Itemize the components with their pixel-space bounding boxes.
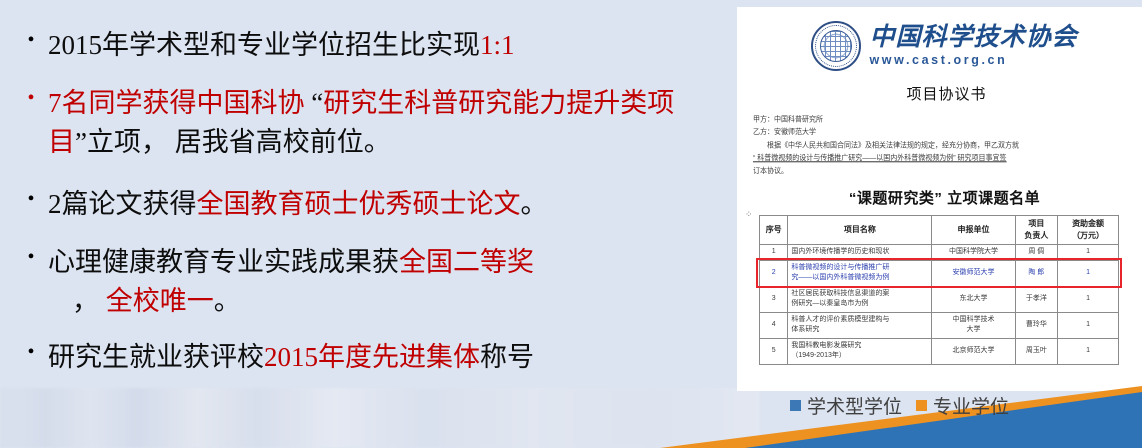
bullet-segment-accent: 7名同学获得中国科协 bbox=[48, 88, 305, 118]
table-row: 5 我国科教电影发展研究 （1949-2013年） 北京师范大学 周玉叶 1 bbox=[760, 338, 1119, 364]
bullet-segment: 称号 bbox=[480, 342, 534, 372]
cell-no: 5 bbox=[760, 338, 788, 364]
column-header-project-name: 项目名称 bbox=[788, 216, 932, 245]
grant-table: 序号 项目名称 申报单位 项目 负责人 资助金额 （万元） bbox=[759, 215, 1119, 365]
cell-no: 3 bbox=[760, 286, 788, 312]
header-label-2: 负责人 bbox=[1024, 231, 1048, 240]
header-label-2: （万元） bbox=[1072, 231, 1104, 240]
cell-line-1: 科普微视频的设计与传播推广研 bbox=[791, 264, 889, 271]
cell-unit: 安徽师范大学 bbox=[932, 260, 1015, 286]
cell-line-2: （1949-2013年） bbox=[791, 352, 845, 359]
bullet-segment: “ bbox=[305, 88, 324, 118]
cell-leader: 曹玲华 bbox=[1015, 312, 1058, 338]
cell-line-2: 体系研究 bbox=[791, 326, 819, 333]
cell-leader: 周 倜 bbox=[1015, 245, 1058, 261]
scan-corner-mark: ⁘ bbox=[745, 209, 753, 220]
cell-project-name: 国内外环境传播学的历史和现状 bbox=[788, 245, 932, 261]
bullet-segment: 。 bbox=[214, 286, 241, 316]
cell-unit: 中国科学技术 大学 bbox=[932, 312, 1015, 338]
cell-line-1: 我国科教电影发展研究 bbox=[791, 342, 861, 349]
cell-amount: 1 bbox=[1058, 245, 1119, 261]
legend-label: 专业学位 bbox=[933, 392, 1009, 419]
chart-legend: 学术型学位 专业学位 bbox=[790, 392, 1009, 419]
cell-line-1: 社区居民获取科技信息渠道的案 bbox=[791, 290, 889, 297]
document-parties-and-preamble: 甲方：中国科普研究所 乙方：安徽师范大学 根据《中华人民共和国合同法》及相关法律… bbox=[753, 114, 1130, 178]
cell-line-1: 科普人才的评价素质模型建构与 bbox=[791, 316, 889, 323]
bullet-segment: 2015年学术型和专业学位招生比实现 bbox=[48, 30, 480, 60]
header-label: 申报单位 bbox=[957, 225, 989, 234]
table-row: 1 国内外环境传播学的历史和现状 中国科学院大学 周 倜 1 bbox=[760, 245, 1119, 261]
bullet-segment-accent: 全校唯一 bbox=[99, 286, 214, 316]
legend-label: 学术型学位 bbox=[807, 392, 902, 419]
bullet-segment: 研究生就业获评校 bbox=[48, 342, 264, 372]
bullet-text: 2篇论文获得全国教育硕士优秀硕士论文。 bbox=[48, 185, 740, 223]
bullet-marker: • bbox=[0, 185, 48, 214]
bullet-segment-accent: 1:1 bbox=[480, 30, 515, 60]
legend-item-academic: 学术型学位 bbox=[790, 392, 902, 419]
cell-leader: 周玉叶 bbox=[1015, 338, 1058, 364]
bullet-segment-accent: 全国教育硕士优秀硕士论文 bbox=[197, 189, 521, 219]
column-header-leader: 项目 负责人 bbox=[1015, 216, 1058, 245]
column-header-no: 序号 bbox=[760, 216, 788, 245]
header-label: 资助金额 bbox=[1072, 219, 1104, 228]
cell-line-1: 国内外环境传播学的历史和现状 bbox=[791, 248, 889, 255]
table-header-row: 序号 项目名称 申报单位 项目 负责人 资助金额 （万元） bbox=[760, 216, 1119, 245]
document-letterhead: 中国科学技术协会 www.cast.org.cn bbox=[737, 21, 1142, 71]
header-label: 项目名称 bbox=[844, 225, 876, 234]
cell-amount: 1 bbox=[1058, 260, 1119, 286]
column-header-amount: 资助金额 （万元） bbox=[1058, 216, 1119, 245]
bullet-segment-accent: 2015年度先进集体 bbox=[264, 342, 480, 372]
cell-line-2: 大学 bbox=[966, 326, 980, 333]
table-row: 3 社区居民获取科技信息渠道的案 例研究—以秦皇岛市为例 东北大学 于孝洋 1 bbox=[760, 286, 1119, 312]
party-b-line: 乙方：安徽师范大学 bbox=[753, 127, 1130, 140]
header-label: 项目 bbox=[1028, 219, 1044, 228]
bullet-marker: • bbox=[0, 26, 48, 55]
cell-project-name: 科普人才的评价素质模型建构与 体系研究 bbox=[788, 312, 932, 338]
bullet-text: 研究生就业获评校2015年度先进集体称号 bbox=[48, 338, 740, 376]
document-scan: 中国科学技术协会 www.cast.org.cn 项目协议书 甲方：中国科普研究… bbox=[737, 7, 1142, 391]
bullet-segment: ”立项， 居我省高校前位。 bbox=[75, 127, 391, 157]
grant-list-title: “课题研究类” 立项课题名单 bbox=[747, 187, 1142, 208]
cell-no: 1 bbox=[760, 245, 788, 261]
header-label: 序号 bbox=[766, 225, 782, 234]
cell-unit: 北京师范大学 bbox=[932, 338, 1015, 364]
cell-amount: 1 bbox=[1058, 312, 1119, 338]
party-a-line: 甲方：中国科普研究所 bbox=[753, 114, 1130, 127]
legend-swatch-icon bbox=[916, 400, 927, 411]
bullet-text: 心理健康教育专业实践成果获全国二等奖， 全校唯一。 bbox=[48, 243, 740, 320]
cell-project-name: 我国科教电影发展研究 （1949-2013年） bbox=[788, 338, 932, 364]
list-item: • 研究生就业获评校2015年度先进集体称号 bbox=[0, 338, 740, 376]
list-item: • 7名同学获得中国科协 “研究生科普研究能力提升类项目”立项， 居我省高校前位… bbox=[0, 84, 740, 161]
cell-project-name: 科普微视频的设计与传播推广研 究——以国内外科普微视频为例 bbox=[788, 260, 932, 286]
bullet-marker: • bbox=[0, 84, 48, 113]
slide-canvas: • 2015年学术型和专业学位招生比实现1:1 • 7名同学获得中国科协 “研究… bbox=[0, 0, 1142, 448]
preamble-line-3: 订本协议。 bbox=[753, 165, 1130, 178]
column-header-applicant-unit: 申报单位 bbox=[932, 216, 1015, 245]
list-item: • 2015年学术型和专业学位招生比实现1:1 bbox=[0, 26, 740, 64]
bullet-text: 2015年学术型和专业学位招生比实现1:1 bbox=[48, 26, 740, 64]
cell-no: 4 bbox=[760, 312, 788, 338]
cast-seal-icon bbox=[811, 21, 861, 71]
legend-item-professional: 专业学位 bbox=[916, 392, 1009, 419]
organization-url: www.cast.org.cn bbox=[869, 53, 1077, 67]
bullet-list: • 2015年学术型和专业学位招生比实现1:1 • 7名同学获得中国科协 “研究… bbox=[0, 0, 740, 448]
list-item: • 心理健康教育专业实践成果获全国二等奖， 全校唯一。 bbox=[0, 243, 740, 320]
bullet-marker: • bbox=[0, 243, 48, 272]
cell-amount: 1 bbox=[1058, 338, 1119, 364]
cell-leader: 陶 郎 bbox=[1015, 260, 1058, 286]
cell-line-1: 中国科学技术 bbox=[952, 316, 994, 323]
preamble-line-1: 根据《中华人民共和国合同法》及相关法律法规的规定，经充分协商，甲乙双方就 bbox=[753, 140, 1130, 153]
bullet-segment: ， bbox=[72, 286, 99, 316]
bullet-segment-accent: 全国二等奖 bbox=[399, 247, 534, 277]
cell-no: 2 bbox=[760, 260, 788, 286]
table-row: 2 科普微视频的设计与传播推广研 究——以国内外科普微视频为例 安徽师范大学 陶… bbox=[760, 260, 1119, 286]
bullet-text: 7名同学获得中国科协 “研究生科普研究能力提升类项目”立项， 居我省高校前位。 bbox=[48, 84, 740, 161]
document-title: 项目协议书 bbox=[751, 83, 1142, 104]
table-row: 4 科普人才的评价素质模型建构与 体系研究 中国科学技术 大学 曹玲华 1 bbox=[760, 312, 1119, 338]
bullet-segment: 心理健康教育专业实践成果获 bbox=[48, 247, 399, 277]
bullet-segment: 。 bbox=[521, 189, 548, 219]
cell-line-2: 究——以国内外科普微视频为例 bbox=[791, 274, 889, 281]
cell-line-2: 例研究—以秦皇岛市为例 bbox=[791, 300, 868, 307]
preamble-line-2: “ 科普微视频的设计与传播推广研究——以国内外科普微视频为例” 研究项目事宜签 bbox=[753, 153, 1130, 166]
bullet-subline: ， 全校唯一。 bbox=[48, 282, 722, 320]
organization-name: 中国科学技术协会 bbox=[869, 25, 1077, 51]
bullet-segment: 2篇论文获得 bbox=[48, 189, 197, 219]
legend-swatch-icon bbox=[790, 400, 801, 411]
cell-leader: 于孝洋 bbox=[1015, 286, 1058, 312]
cell-unit: 东北大学 bbox=[932, 286, 1015, 312]
cell-amount: 1 bbox=[1058, 286, 1119, 312]
cell-project-name: 社区居民获取科技信息渠道的案 例研究—以秦皇岛市为例 bbox=[788, 286, 932, 312]
list-item: • 2篇论文获得全国教育硕士优秀硕士论文。 bbox=[0, 185, 740, 223]
cell-unit: 中国科学院大学 bbox=[932, 245, 1015, 261]
bullet-marker: • bbox=[0, 338, 48, 367]
